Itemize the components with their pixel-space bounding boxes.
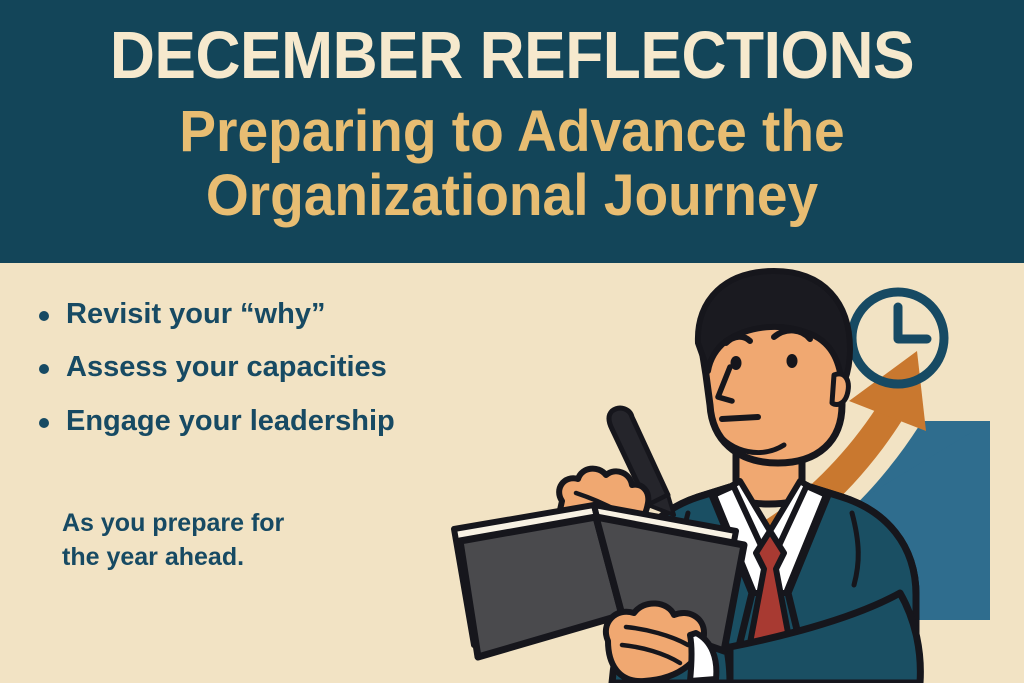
bullet-dot-icon [39, 311, 49, 321]
header-band: DECEMBER REFLECTIONS Preparing to Advanc… [0, 0, 1024, 263]
body-area: Revisit your “why” Assess your capacitie… [0, 263, 1024, 683]
eye-right [787, 354, 798, 368]
page-subtitle: Preparing to Advance the Organizational … [26, 100, 999, 228]
list-item-label: Assess your capacities [66, 351, 387, 383]
closing-statement: As you prepare for the year ahead. [62, 506, 392, 574]
bullet-dot-icon [39, 364, 49, 374]
bullet-dot-icon [39, 418, 49, 428]
page-subtitle-line-2: Organizational Journey [26, 164, 999, 228]
list-item-label: Engage your leadership [66, 405, 395, 437]
notebook-cover-left [460, 517, 622, 657]
list-item-label: Revisit your “why” [66, 298, 325, 330]
ear [832, 374, 848, 405]
closing-statement-line-1: As you prepare for [62, 506, 392, 540]
illustration-man-writing [430, 263, 1024, 683]
closing-statement-line-2: the year ahead. [62, 540, 392, 574]
poster-canvas: DECEMBER REFLECTIONS Preparing to Advanc… [0, 0, 1024, 683]
page-subtitle-line-1: Preparing to Advance the [26, 100, 999, 164]
mouth [722, 417, 758, 419]
page-title: DECEMBER REFLECTIONS [36, 22, 988, 89]
